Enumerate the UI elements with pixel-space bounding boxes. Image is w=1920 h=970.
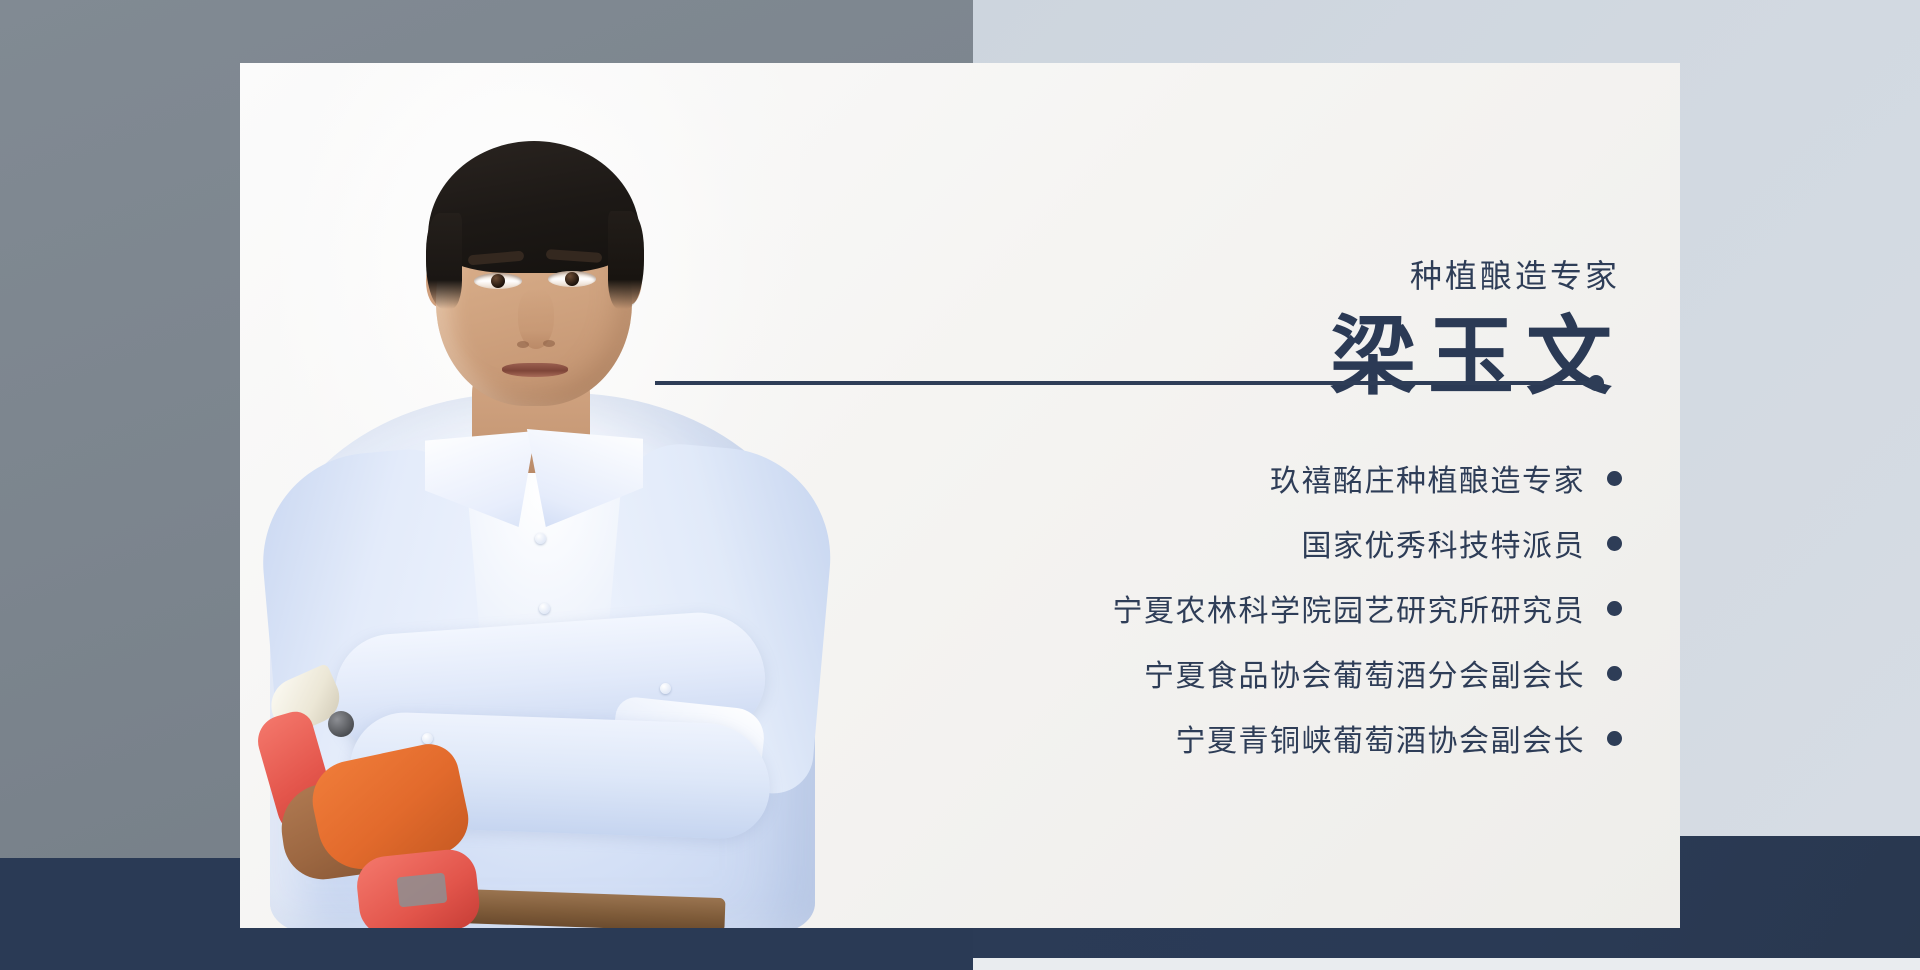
bullet-dot-icon <box>1607 601 1622 616</box>
list-item: 国家优秀科技特派员 <box>802 516 1622 570</box>
portrait-shirt-button <box>535 533 546 544</box>
portrait-shirt-button <box>660 683 671 694</box>
expert-profile-banner: 种植酿造专家 梁玉文 玖禧酩庄种植酿造专家 国家优秀科技特派员 宁夏农林科学院园… <box>0 0 1920 970</box>
credential-label: 宁夏青铜峡葡萄酒协会副会长 <box>1176 716 1586 760</box>
bullet-dot-icon <box>1607 471 1622 486</box>
credential-label: 玖禧酩庄种植酿造专家 <box>1270 456 1585 500</box>
portrait-pupil-left <box>491 274 505 288</box>
credential-label: 宁夏农林科学院园艺研究所研究员 <box>1113 586 1586 630</box>
portrait-shirt-button <box>539 603 550 614</box>
portrait-nostril-right <box>543 340 555 347</box>
list-item: 宁夏食品协会葡萄酒分会副会长 <box>802 646 1622 700</box>
portrait-hair-side-right <box>608 211 644 309</box>
divider-end-dot-icon <box>1588 375 1604 391</box>
list-item: 宁夏农林科学院园艺研究所研究员 <box>802 581 1622 635</box>
portrait-photo <box>240 63 840 928</box>
list-item: 宁夏青铜峡葡萄酒协会副会长 <box>802 711 1622 765</box>
portrait-hair-side-left <box>426 213 462 309</box>
portrait-mouth <box>502 363 568 377</box>
portrait-nostril-left <box>517 341 529 348</box>
credential-label: 宁夏食品协会葡萄酒分会副会长 <box>1144 651 1585 695</box>
bullet-dot-icon <box>1607 536 1622 551</box>
profile-card: 种植酿造专家 梁玉文 玖禧酩庄种植酿造专家 国家优秀科技特派员 宁夏农林科学院园… <box>240 63 1680 928</box>
page-title: 梁玉文 <box>1330 311 1624 404</box>
bullet-dot-icon <box>1607 666 1622 681</box>
divider-line <box>655 381 1600 385</box>
portrait-shirt-button <box>422 733 433 744</box>
credential-list: 玖禧酩庄种植酿造专家 国家优秀科技特派员 宁夏农林科学院园艺研究所研究员 宁夏食… <box>802 451 1622 776</box>
bullet-dot-icon <box>1607 731 1622 746</box>
portrait-pupil-right <box>565 272 579 286</box>
background-bottom-strip <box>973 958 1920 970</box>
list-item: 玖禧酩庄种植酿造专家 <box>802 451 1622 505</box>
pruning-shear-label <box>397 873 448 908</box>
pruning-shear-pivot-icon <box>328 711 354 737</box>
profile-subtitle: 种植酿造专家 <box>1410 251 1620 297</box>
credential-label: 国家优秀科技特派员 <box>1302 521 1586 565</box>
